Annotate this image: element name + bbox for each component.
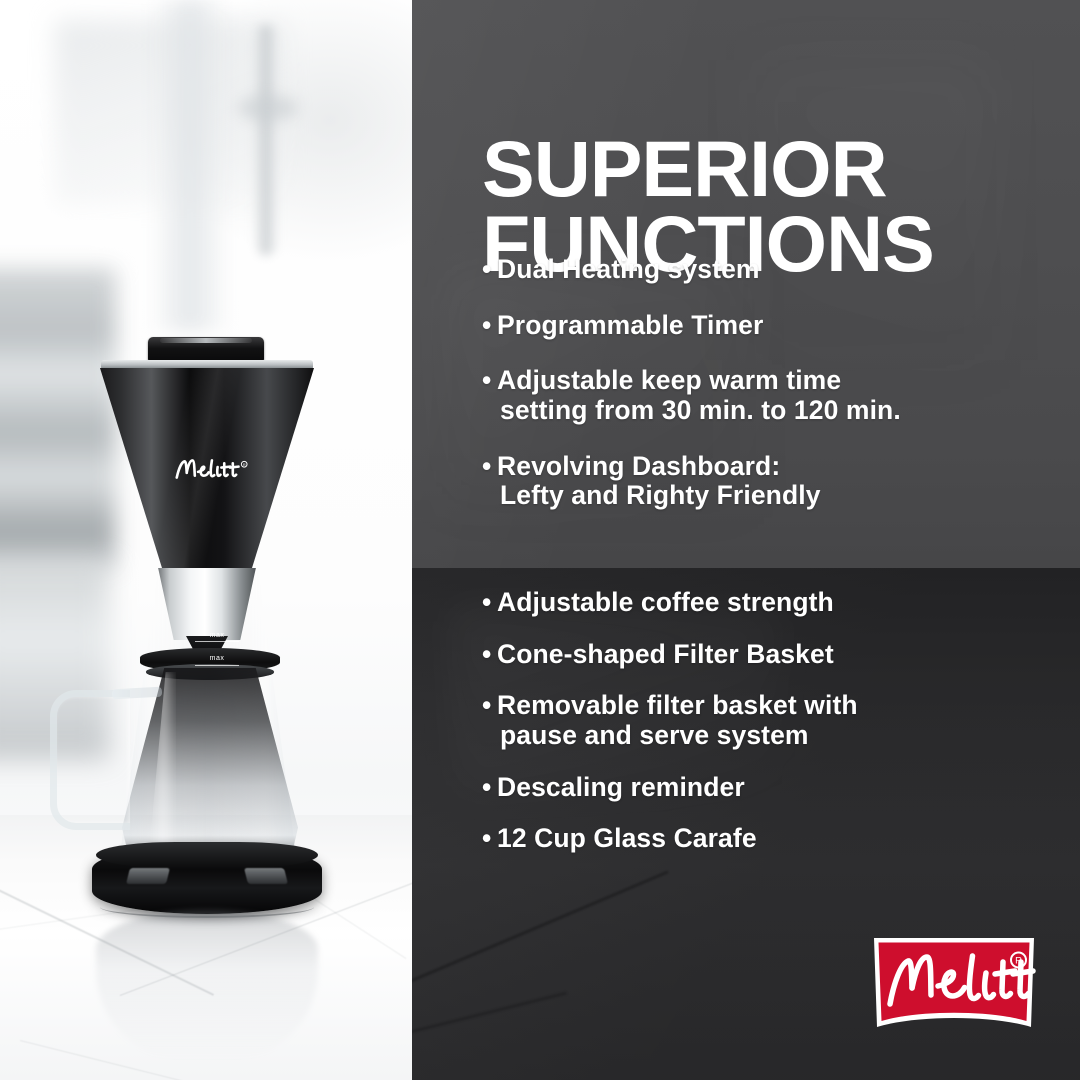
- feature-text: Revolving Dashboard: Lefty and Righty Fr…: [497, 452, 1072, 511]
- feature-list-secondary: • Adjustable coffee strength • Cone-shap…: [482, 588, 1072, 876]
- bullet-icon: •: [482, 588, 497, 618]
- bullet-icon: •: [482, 824, 497, 854]
- feature-line-2: setting from 30 min. to 120 min.: [497, 396, 1072, 426]
- feature-line-2: pause and serve system: [497, 721, 1072, 751]
- list-item: • Removable filter basket with pause and…: [482, 691, 1072, 750]
- feature-text: Programmable Timer: [497, 311, 1072, 341]
- lid-highlight: [160, 338, 252, 343]
- carafe-max-line-lower: [195, 665, 239, 666]
- feature-text: Adjustable coffee strength: [497, 588, 1072, 618]
- feature-text: Adjustable keep warm time setting from 3…: [497, 366, 1072, 425]
- list-item: • Adjustable keep warm time setting from…: [482, 366, 1072, 425]
- feature-line-1: Revolving Dashboard:: [497, 451, 780, 481]
- feature-text: 12 Cup Glass Carafe: [497, 824, 1072, 854]
- feature-line-1: 12 Cup Glass Carafe: [497, 823, 757, 853]
- feature-line-1: Dual Heating system: [497, 254, 760, 284]
- countertop-reflection: [96, 910, 318, 1060]
- feature-line-1: Adjustable keep warm time: [497, 365, 841, 395]
- bullet-icon: •: [482, 773, 497, 803]
- list-item: • 12 Cup Glass Carafe: [482, 824, 1072, 854]
- control-button-left: [126, 868, 170, 884]
- feature-line-1: Cone-shaped Filter Basket: [497, 639, 834, 669]
- bullet-icon: •: [482, 255, 497, 285]
- carafe-max-line-upper: [195, 641, 239, 642]
- registered-trademark-symbol: R: [1015, 956, 1022, 967]
- feature-line-1: Removable filter basket with: [497, 690, 858, 720]
- feature-line-1: Adjustable coffee strength: [497, 587, 834, 617]
- bullet-icon: •: [482, 640, 497, 670]
- list-item: • Cone-shaped Filter Basket: [482, 640, 1072, 670]
- list-item: • Dual Heating system: [482, 255, 1072, 285]
- carafe-max-label-upper: max: [195, 632, 239, 639]
- feature-line-1: Descaling reminder: [497, 772, 745, 802]
- list-item: • Adjustable coffee strength: [482, 588, 1072, 618]
- list-item: • Programmable Timer: [482, 311, 1072, 341]
- bullet-icon: •: [482, 311, 497, 341]
- feature-line-1: Programmable Timer: [497, 310, 763, 340]
- list-item: • Revolving Dashboard: Lefty and Righty …: [482, 452, 1072, 511]
- stone-vein: [412, 871, 669, 990]
- control-button-right: [244, 868, 288, 884]
- feature-text: Descaling reminder: [497, 773, 1072, 803]
- bullet-icon: •: [482, 691, 497, 750]
- coffee-maker-product-image: R max max: [0, 0, 412, 1080]
- svg-text:R: R: [243, 463, 246, 467]
- product-feature-graphic: R max max: [0, 0, 1080, 1080]
- machine-base-top: [96, 842, 318, 868]
- carafe-handle: [50, 690, 130, 830]
- melitta-script-on-cone: R: [172, 456, 248, 482]
- list-item: • Descaling reminder: [482, 773, 1072, 803]
- bullet-icon: •: [482, 452, 497, 511]
- feature-line-2: Lefty and Righty Friendly: [497, 481, 1072, 511]
- features-panel: SUPERIOR FUNCTIONS • Dual Heating system…: [412, 0, 1080, 1080]
- bullet-icon: •: [482, 366, 497, 425]
- stone-vein: [412, 992, 567, 1040]
- feature-text: Dual Heating system: [497, 255, 1072, 285]
- carafe-max-label-lower: max: [195, 655, 239, 662]
- feature-text: Removable filter basket with pause and s…: [497, 691, 1072, 750]
- product-photo-panel: R max max: [0, 0, 412, 1080]
- feature-list-primary: • Dual Heating system • Programmable Tim…: [482, 255, 1072, 537]
- feature-text: Cone-shaped Filter Basket: [497, 640, 1072, 670]
- melitta-brand-logo: R: [872, 936, 1036, 1036]
